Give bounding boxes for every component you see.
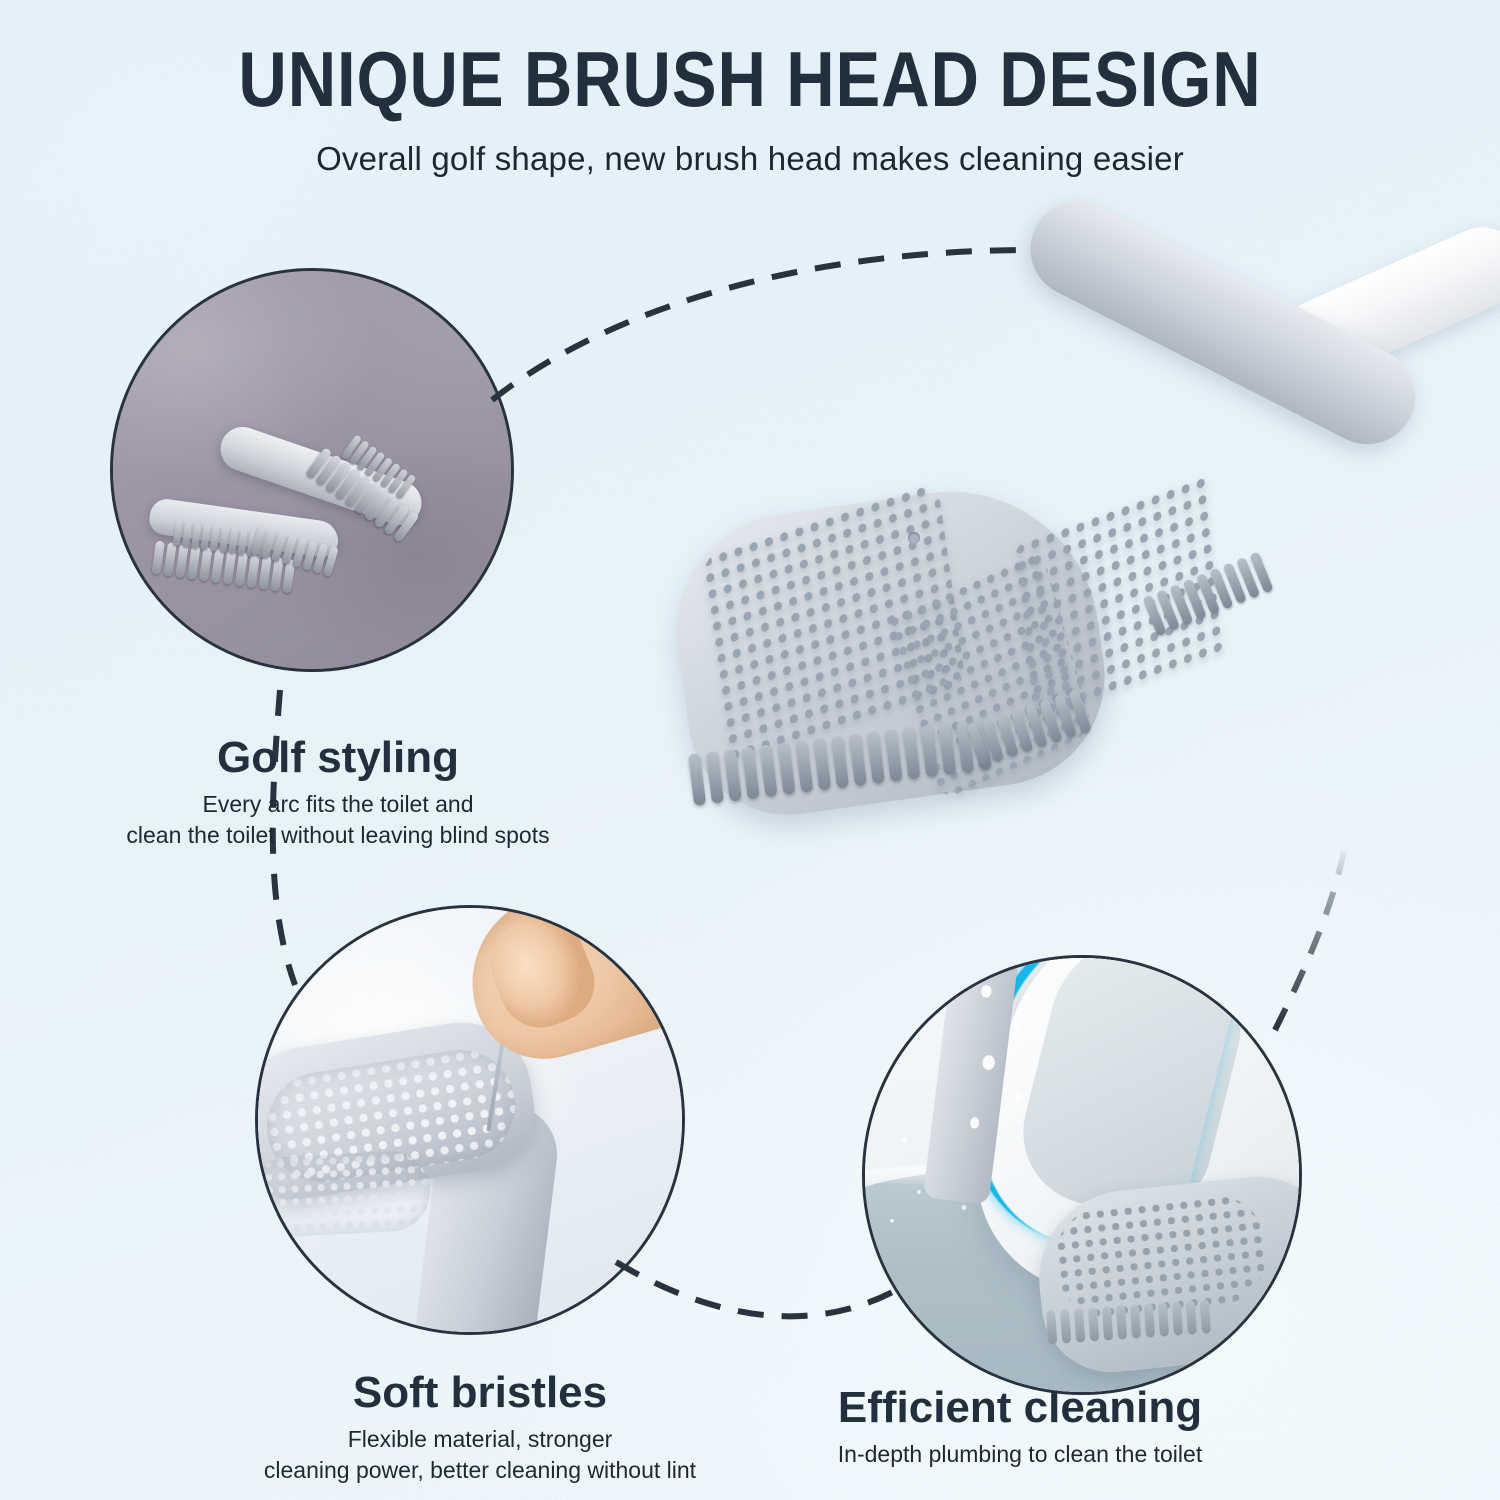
caption-title-efficient-cleaning: Efficient cleaning xyxy=(700,1385,1340,1431)
caption-title-golf-styling: Golf styling xyxy=(28,735,648,781)
callout-circle-soft-bristles xyxy=(255,905,685,1335)
caption-description-golf-styling: Every arc fits the toilet and clean the … xyxy=(28,789,648,850)
callout-circle-golf-styling xyxy=(110,268,514,672)
callout-circle-efficient-cleaning xyxy=(862,955,1302,1395)
caption-desc-line1: In-depth plumbing to clean the toilet xyxy=(700,1439,1340,1469)
infographic-page: UNIQUE BRUSH HEAD DESIGN Overall golf sh… xyxy=(0,0,1500,1500)
hero-product-image xyxy=(660,250,1500,890)
caption-efficient-cleaning: Efficient cleaning In-depth plumbing to … xyxy=(700,1385,1340,1470)
caption-desc-line1: Every arc fits the toilet and xyxy=(28,789,648,819)
soft-bristle-pad-lower xyxy=(255,1149,432,1238)
header: UNIQUE BRUSH HEAD DESIGN Overall golf sh… xyxy=(0,0,1500,178)
page-title: UNIQUE BRUSH HEAD DESIGN xyxy=(105,40,1395,118)
page-subtitle: Overall golf shape, new brush head makes… xyxy=(0,140,1500,178)
product-hang-hole xyxy=(908,532,920,544)
caption-desc-line2: clean the toilet without leaving blind s… xyxy=(28,820,648,850)
caption-golf-styling: Golf styling Every arc fits the toilet a… xyxy=(28,735,648,850)
caption-description-efficient-cleaning: In-depth plumbing to clean the toilet xyxy=(700,1439,1340,1469)
